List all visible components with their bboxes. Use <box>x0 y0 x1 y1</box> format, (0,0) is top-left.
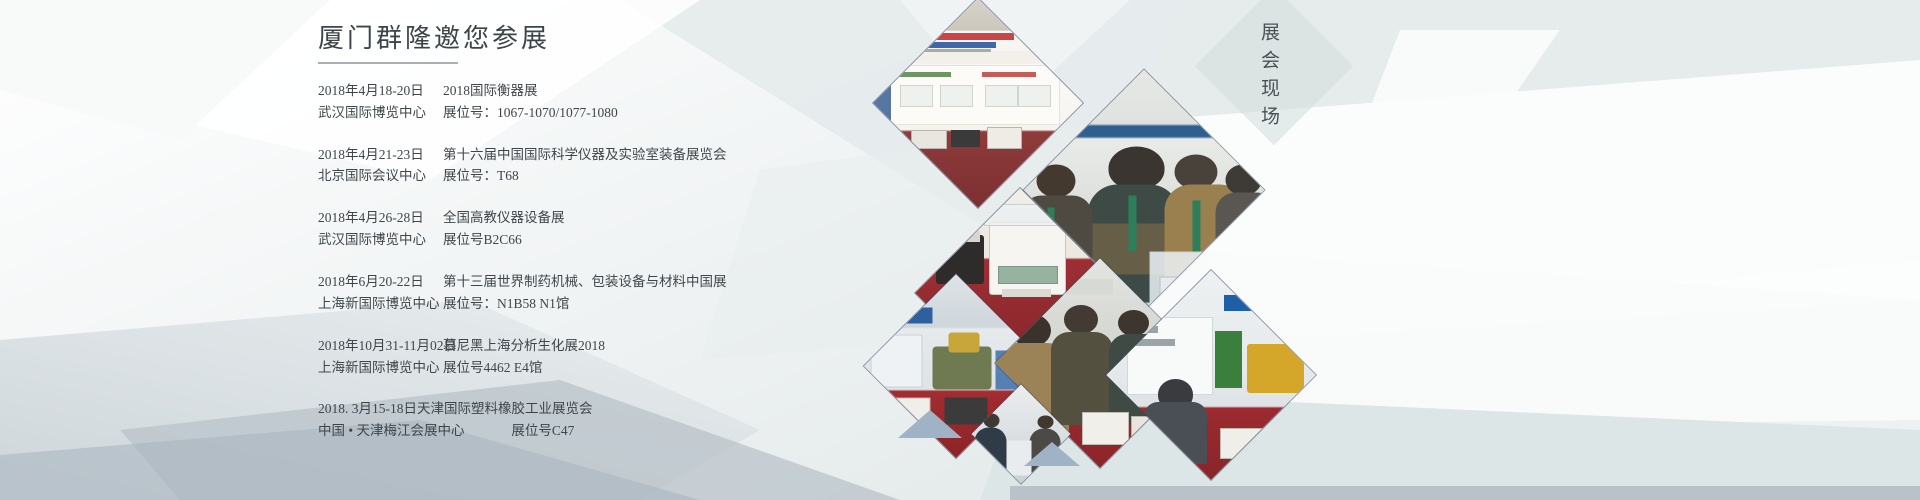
event-booth: 展位号：1067-1070/1077-1080 <box>443 102 618 124</box>
exhibition-banner: 厦门群隆邀您参展 2018年4月18-20日 2018国际衡器展 武汉国际博览中… <box>0 0 1920 500</box>
event-venue: 中国 • 天津梅江会展中心 <box>318 420 508 442</box>
event-venue: 武汉国际博览中心 <box>318 102 443 124</box>
event-booth: 展位号B2C66 <box>443 229 522 251</box>
event-name: 慕尼黑上海分析生化展2018 <box>443 335 605 357</box>
event-name: 第十三届世界制药机械、包装设备与材料中国展 <box>443 271 727 293</box>
event-date: 2018年4月26-28日 <box>318 207 443 229</box>
decorative-triangle-icon <box>898 410 962 438</box>
event-venue: 武汉国际博览中心 <box>318 229 443 251</box>
decorative-triangle-icon <box>1024 442 1080 466</box>
event-date: 2018年6月20-22日 <box>318 271 443 293</box>
event-name: 第十六届中国国际科学仪器及实验室装备展览会 <box>443 144 727 166</box>
event-booth: 展位号：N1B58 N1馆 <box>443 293 569 315</box>
bottom-accent-bar <box>1010 486 1920 500</box>
event-booth: 展位号4462 E4馆 <box>443 357 542 379</box>
event-date: 2018. 3月15-18日天津国际塑料橡胶工业展览会 <box>318 401 593 416</box>
event-venue: 北京国际会议中心 <box>318 165 443 187</box>
event-date: 2018年4月18-20日 <box>318 80 443 102</box>
title-divider <box>318 62 458 64</box>
event-date: 2018年4月21-23日 <box>318 144 443 166</box>
vertical-label-text: 展会现场 <box>1258 22 1278 134</box>
event-venue: 上海新国际博览中心 <box>318 293 443 315</box>
event-venue: 上海新国际博览中心 <box>318 357 443 379</box>
event-date: 2018年10月31-11月02日 <box>318 335 443 357</box>
photo-collage: 展会现场 <box>840 0 1300 500</box>
event-booth: 展位号C47 <box>511 423 574 438</box>
event-name: 2018国际衡器展 <box>443 80 538 102</box>
event-name: 全国高教仪器设备展 <box>443 207 565 229</box>
event-booth: 展位号：T68 <box>443 165 519 187</box>
